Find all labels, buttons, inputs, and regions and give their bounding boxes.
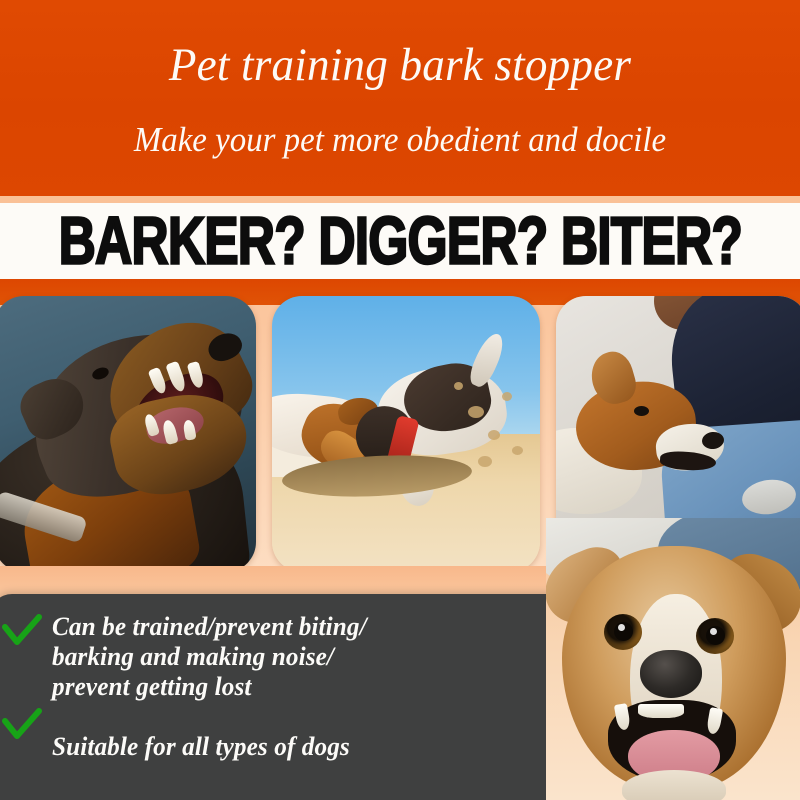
dog-eye-glint bbox=[710, 628, 717, 635]
question-banner: BARKER? DIGGER? BITER? bbox=[0, 203, 800, 279]
page-subtitle: Make your pet more obedient and docile bbox=[24, 122, 776, 157]
sand-spray bbox=[488, 430, 500, 440]
barking-dog-photo bbox=[0, 296, 256, 572]
dog-nose bbox=[640, 650, 702, 698]
check-icon bbox=[0, 614, 44, 648]
dog-chin bbox=[622, 770, 726, 800]
digging-dogs-scene bbox=[272, 296, 540, 572]
check-icon bbox=[0, 708, 44, 742]
sand-spray bbox=[468, 406, 484, 418]
dog-eye-glint bbox=[618, 624, 625, 631]
product-advertisement: Pet training bark stopper Make your pet … bbox=[0, 0, 800, 800]
feature-item: Suitable for all types of dogs bbox=[0, 706, 359, 762]
feature-text: Suitable for all types of dogs bbox=[52, 732, 350, 762]
header-banner: Pet training bark stopper Make your pet … bbox=[0, 0, 800, 196]
digging-dogs-photo bbox=[272, 296, 540, 572]
dog-eye bbox=[634, 406, 649, 416]
sand-spray bbox=[502, 392, 512, 401]
feature-item: Can be trained/prevent biting/ barking a… bbox=[0, 612, 376, 702]
feature-text: Can be trained/prevent biting/ barking a… bbox=[52, 612, 367, 702]
happy-dog-photo bbox=[546, 518, 800, 800]
sand-spray bbox=[478, 456, 492, 467]
barking-dog-scene bbox=[0, 296, 256, 572]
page-title: Pet training bark stopper bbox=[16, 42, 784, 89]
sand-spray bbox=[454, 382, 463, 390]
sand-spray bbox=[512, 446, 523, 455]
dog-teeth-row bbox=[638, 704, 684, 718]
question-banner-text: BARKER? DIGGER? BITER? bbox=[55, 207, 745, 274]
